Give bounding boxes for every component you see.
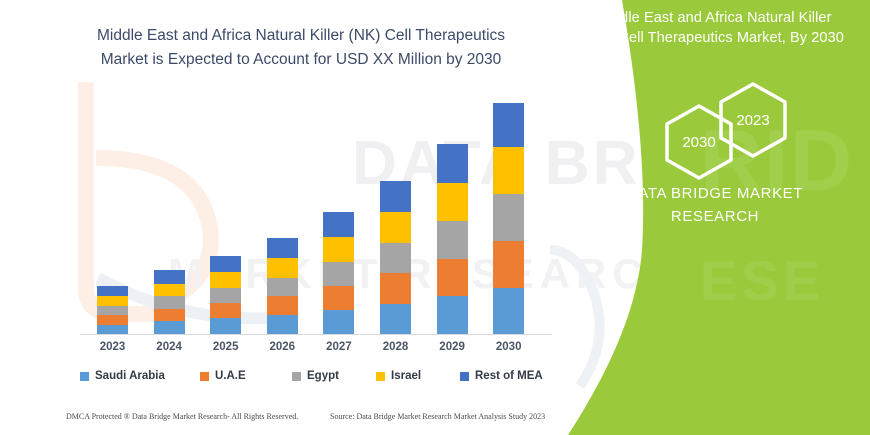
chart-title-line-1: Middle East and Africa Natural Killer (N… <box>56 24 546 48</box>
chart-panel: DATA BRIDGE MARKET RESEARCH Middle East … <box>0 0 600 435</box>
bar-segment-israel <box>97 296 128 305</box>
bar-segment-rest-of-mea <box>380 181 411 212</box>
bar-segment-israel <box>493 147 524 194</box>
bar-segment-saudi-arabia <box>493 288 524 335</box>
brand-name: DATA BRIDGE MARKET RESEARCH <box>570 182 860 228</box>
bar-segment-egypt <box>437 221 468 259</box>
bar-segment-rest-of-mea <box>267 238 298 258</box>
legend-swatch-icon <box>200 372 209 381</box>
brand-name-line-2: RESEARCH <box>570 205 860 228</box>
x-axis-label-2029: 2029 <box>422 341 482 353</box>
bar-segment-egypt <box>380 243 411 273</box>
bar-segment-u-a-e <box>210 303 241 319</box>
bar-segment-saudi-arabia <box>210 318 241 335</box>
brand-panel-title-line-1: Middle East and Africa Natural Killer <box>568 8 860 28</box>
bar-segment-israel <box>267 258 298 278</box>
legend-label: Rest of MEA <box>475 370 543 382</box>
x-axis-label-2030: 2030 <box>479 341 539 353</box>
bar-segment-saudi-arabia <box>267 315 298 335</box>
bar-2029 <box>437 144 468 335</box>
infographic-root: DATA BRIDGE MARKET RESEARCH Middle East … <box>0 0 870 435</box>
brand-panel-title: Middle East and Africa Natural Killer (N… <box>568 8 860 48</box>
legend-label: Israel <box>391 370 421 382</box>
legend-label: Egypt <box>307 370 339 382</box>
bar-2026 <box>267 238 298 335</box>
x-axis-label-2025: 2025 <box>196 341 256 353</box>
footer: DMCA Protected ® Data Bridge Market Rese… <box>66 412 566 428</box>
bar-segment-egypt <box>210 288 241 303</box>
bar-segment-saudi-arabia <box>323 310 354 335</box>
chart-legend: Saudi ArabiaU.A.EEgyptIsraelRest of MEA <box>80 370 550 388</box>
bar-2023 <box>97 286 128 335</box>
bar-segment-u-a-e <box>323 286 354 310</box>
legend-swatch-icon <box>80 372 89 381</box>
bar-segment-egypt <box>493 194 524 241</box>
x-axis-label-2027: 2027 <box>309 341 369 353</box>
chart-title-line-2: Market is Expected to Account for USD XX… <box>56 48 546 72</box>
legend-item-israel[interactable]: Israel <box>376 370 421 382</box>
hexagon-badge-2023-label: 2023 <box>717 80 789 160</box>
hexagon-badge-2023: 2023 <box>717 80 789 160</box>
legend-label: Saudi Arabia <box>95 370 165 382</box>
bar-segment-israel <box>323 237 354 262</box>
bar-segment-saudi-arabia <box>437 296 468 335</box>
legend-swatch-icon <box>292 372 301 381</box>
legend-label: U.A.E <box>215 370 246 382</box>
footer-copyright: DMCA Protected ® Data Bridge Market Rese… <box>66 412 298 421</box>
svg-text:ESE: ESE <box>700 249 824 312</box>
legend-item-rest-of-mea[interactable]: Rest of MEA <box>460 370 543 382</box>
hexagon-badges: 2030 2023 <box>645 88 855 178</box>
legend-item-u-a-e[interactable]: U.A.E <box>200 370 246 382</box>
bar-chart-plot <box>80 95 520 335</box>
bar-2028 <box>380 181 411 335</box>
bar-segment-egypt <box>267 278 298 297</box>
footer-source: Source: Data Bridge Market Research Mark… <box>330 412 545 421</box>
brand-panel-title-line-2: (NK) Cell Therapeutics Market, By 2030 <box>568 28 860 48</box>
bar-2024 <box>154 270 185 335</box>
bar-segment-u-a-e <box>437 259 468 297</box>
bar-2030 <box>493 103 524 335</box>
chart-title: Middle East and Africa Natural Killer (N… <box>56 24 546 72</box>
bar-segment-saudi-arabia <box>380 304 411 335</box>
bar-segment-israel <box>437 183 468 222</box>
brand-name-line-1: DATA BRIDGE MARKET <box>570 182 860 205</box>
bar-segment-egypt <box>154 296 185 309</box>
legend-swatch-icon <box>460 372 469 381</box>
bar-segment-israel <box>210 272 241 288</box>
bar-segment-saudi-arabia <box>154 321 185 335</box>
bar-segment-rest-of-mea <box>210 256 241 273</box>
x-axis-line <box>80 334 552 335</box>
bar-2027 <box>323 212 354 335</box>
legend-item-saudi-arabia[interactable]: Saudi Arabia <box>80 370 165 382</box>
x-axis-label-2024: 2024 <box>139 341 199 353</box>
x-axis-label-2028: 2028 <box>366 341 426 353</box>
bar-segment-rest-of-mea <box>154 270 185 284</box>
bar-segment-rest-of-mea <box>97 286 128 296</box>
bar-segment-rest-of-mea <box>437 144 468 183</box>
bar-segment-u-a-e <box>267 296 298 315</box>
bar-segment-rest-of-mea <box>323 212 354 237</box>
x-axis-label-2023: 2023 <box>83 341 143 353</box>
brand-panel: RID ESE Middle East and Africa Natural K… <box>550 0 870 435</box>
bar-segment-u-a-e <box>380 273 411 303</box>
bar-segment-u-a-e <box>493 241 524 288</box>
bar-segment-israel <box>380 212 411 243</box>
bar-segment-egypt <box>97 306 128 315</box>
x-axis-label-2026: 2026 <box>252 341 312 353</box>
bar-segment-egypt <box>323 262 354 286</box>
x-axis-labels: 20232024202520262027202820292030 <box>80 341 552 361</box>
bar-segment-u-a-e <box>154 309 185 322</box>
bar-segment-israel <box>154 284 185 297</box>
legend-swatch-icon <box>376 372 385 381</box>
bar-segment-rest-of-mea <box>493 103 524 147</box>
bar-segment-u-a-e <box>97 315 128 324</box>
bar-2025 <box>210 256 241 335</box>
legend-item-egypt[interactable]: Egypt <box>292 370 339 382</box>
